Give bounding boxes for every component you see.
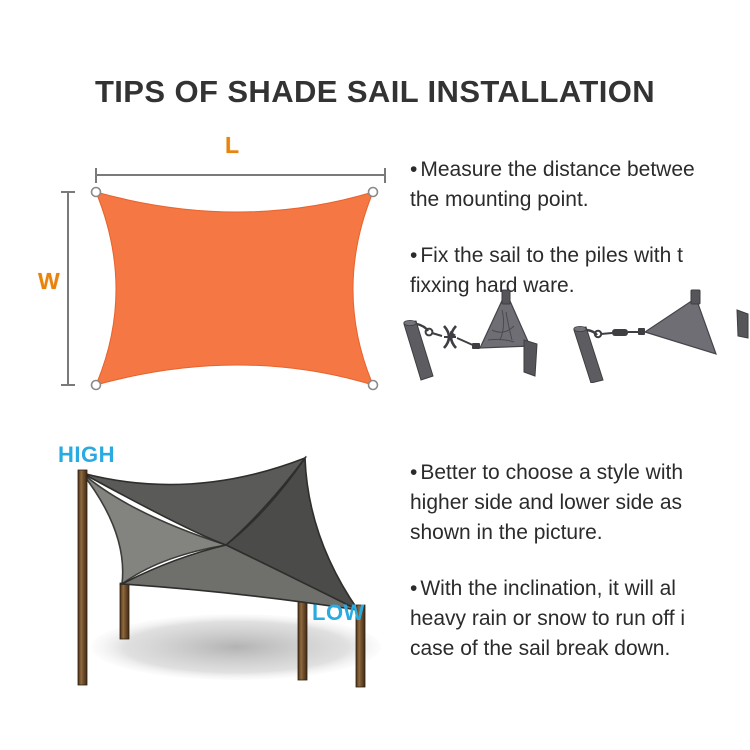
hardware-figure-sail-edge (568, 288, 750, 383)
mounting-post-icon (574, 326, 603, 383)
hardware-figure-2-svg (568, 288, 750, 383)
post-rear-left (120, 583, 129, 639)
sail-edge-panel (645, 298, 716, 354)
hypar-sail-svg (40, 440, 410, 695)
bottom-tips-text: •Better to choose a style with higher si… (410, 458, 685, 664)
orange-sail-shape (96, 192, 373, 385)
hardware-figure-1-svg (400, 288, 580, 383)
tip-line-text: the mounting point. (410, 185, 695, 215)
tip-line-text: shown in the picture. (410, 518, 685, 548)
post-front-left-high (78, 470, 87, 685)
tip-line: •Measure the distance betwee (410, 155, 695, 185)
bullet-icon: • (410, 158, 417, 181)
tip-paragraph: •With the inclination, it will al heavy … (410, 574, 685, 664)
tip-line-text: Better to choose a style with (420, 461, 683, 484)
tip-line: •Better to choose a style with (410, 458, 685, 488)
bullet-icon: • (410, 461, 417, 484)
tip-line: •With the inclination, it will al (410, 574, 685, 604)
rectangular-sail-svg (40, 140, 400, 405)
length-label: L (225, 132, 239, 159)
tip-line-text: Fix the sail to the piles with t (420, 244, 683, 267)
tip-line-text: With the inclination, it will al (420, 577, 676, 600)
bullet-icon: • (410, 244, 417, 267)
tip-line-text: Measure the distance betwee (420, 158, 694, 181)
infographic-page: TIPS OF SHADE SAIL INSTALLATION (0, 0, 750, 750)
length-dimension-line (96, 168, 385, 183)
turnbuckle-icon (432, 326, 456, 348)
rectangular-sail-diagram: L W (40, 140, 400, 405)
bullet-icon: • (410, 577, 417, 600)
turnbuckle-icon (601, 328, 645, 336)
tip-line-text: heavy rain or snow to run off i (410, 604, 685, 634)
tip-line-text: higher side and lower side as (410, 488, 685, 518)
hypar-sail-diagram: HIGH LOW (40, 440, 410, 695)
width-label: W (38, 268, 60, 295)
low-label: LOW (312, 600, 365, 626)
hardware-figure-triangular-corner (400, 288, 580, 383)
tip-paragraph: •Better to choose a style with higher si… (410, 458, 685, 548)
width-dimension-line (61, 192, 75, 385)
tip-line-text: case of the sail break down. (410, 634, 685, 664)
cable-icon (457, 338, 480, 349)
high-label: HIGH (58, 442, 115, 468)
tip-paragraph: •Measure the distance betwee the mountin… (410, 155, 695, 215)
tip-line: •Fix the sail to the piles with t (410, 241, 695, 271)
top-tips-text: •Measure the distance betwee the mountin… (410, 155, 695, 301)
page-title: TIPS OF SHADE SAIL INSTALLATION (0, 74, 750, 110)
